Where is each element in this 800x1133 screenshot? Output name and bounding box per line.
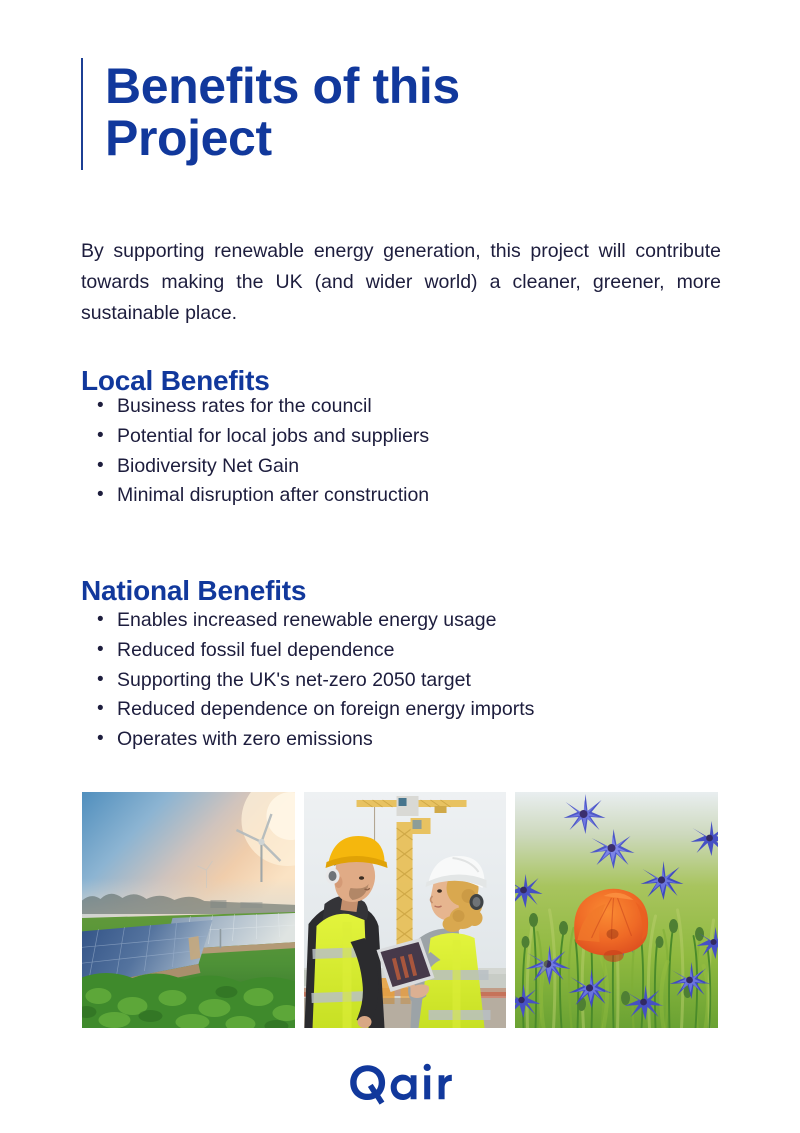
intro-paragraph: By supporting renewable energy generatio…: [81, 236, 721, 330]
brand-logo: [0, 1062, 800, 1106]
photo-construction-workers-tablet: [304, 792, 506, 1028]
construction-workers-illustration: [304, 792, 506, 1028]
section-heading-national-benefits: National Benefits: [81, 575, 306, 607]
list-item: Enables increased renewable energy usage: [81, 606, 741, 636]
page-title-block: Benefits of this Project: [81, 58, 460, 170]
wildflower-meadow-illustration: [515, 792, 718, 1028]
list-item: Biodiversity Net Gain: [81, 452, 741, 482]
list-item: Operates with zero emissions: [81, 725, 741, 755]
solar-farm-illustration: [82, 792, 295, 1028]
list-item: Potential for local jobs and suppliers: [81, 422, 741, 452]
photo-solar-farm-wind-turbine-sunrise: [82, 792, 295, 1028]
list-item: Reduced dependence on foreign energy imp…: [81, 695, 741, 725]
qair-logo-wordmark: [348, 1062, 452, 1106]
document-page: Benefits of this Project By supporting r…: [0, 0, 800, 1133]
photo-strip: [82, 792, 718, 1028]
list-item: Business rates for the council: [81, 392, 741, 422]
benefits-list-local: Business rates for the council Potential…: [81, 392, 741, 511]
list-item: Reduced fossil fuel dependence: [81, 636, 741, 666]
list-item: Supporting the UK's net-zero 2050 target: [81, 666, 741, 696]
list-item: Minimal disruption after construction: [81, 481, 741, 511]
benefits-list-national: Enables increased renewable energy usage…: [81, 606, 741, 755]
photo-wildflower-meadow-cornflowers-poppy: [515, 792, 718, 1028]
title-accent-rule: [81, 58, 83, 170]
page-title: Benefits of this Project: [105, 58, 460, 170]
